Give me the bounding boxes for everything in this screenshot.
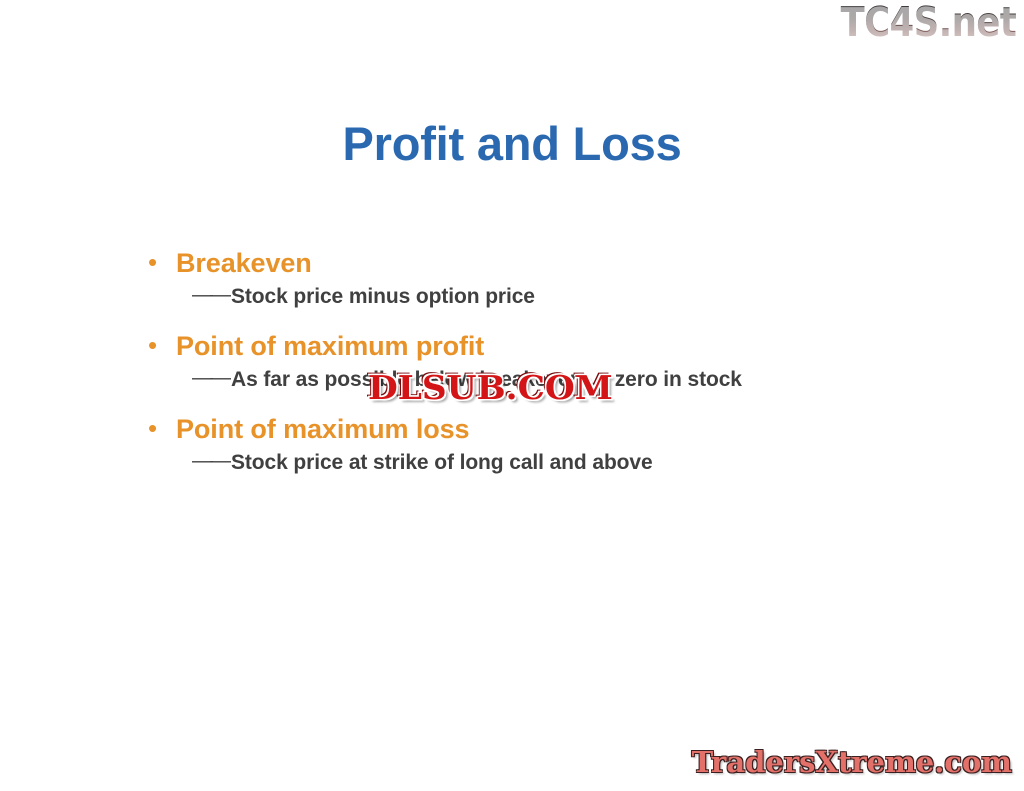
sub-bullet-row: —— Stock price minus option price xyxy=(192,284,998,309)
bullet-list: • Breakeven —— Stock price minus option … xyxy=(148,248,998,497)
em-dash-icon: —— xyxy=(192,365,228,390)
bullet-row: • Point of maximum profit xyxy=(148,331,998,363)
em-dash-icon: —— xyxy=(192,448,228,473)
bullet-dot-icon: • xyxy=(148,249,176,275)
list-item: • Breakeven —— Stock price minus option … xyxy=(148,248,998,309)
tc4s-brand-logo: TC4S.net xyxy=(840,2,1016,43)
sub-bullet-row: —— Stock price at strike of long call an… xyxy=(192,450,998,475)
em-dash-icon: —— xyxy=(192,282,228,307)
sub-bullet-label: Stock price at strike of long call and a… xyxy=(231,450,653,475)
sub-bullet-row: —— As far as possible below breakeven … … xyxy=(192,367,998,392)
bullet-label: Breakeven xyxy=(176,248,312,280)
bullet-label: Point of maximum loss xyxy=(176,414,469,446)
list-item: • Point of maximum loss —— Stock price a… xyxy=(148,414,998,475)
list-item: • Point of maximum profit —— As far as p… xyxy=(148,331,998,392)
slide-canvas: TC4S.net Profit and Loss • Breakeven —— … xyxy=(0,0,1024,791)
bullet-dot-icon: • xyxy=(148,415,176,441)
tradersxtreme-watermark: TradersXtreme.com xyxy=(692,748,1012,777)
bullet-row: • Point of maximum loss xyxy=(148,414,998,446)
sub-bullet-label: Stock price minus option price xyxy=(231,284,535,309)
bullet-dot-icon: • xyxy=(148,332,176,358)
page-title: Profit and Loss xyxy=(0,118,1024,171)
bullet-row: • Breakeven xyxy=(148,248,998,280)
bullet-label: Point of maximum profit xyxy=(176,331,484,363)
sub-bullet-label: As far as possible below breakeven … zer… xyxy=(231,367,742,392)
